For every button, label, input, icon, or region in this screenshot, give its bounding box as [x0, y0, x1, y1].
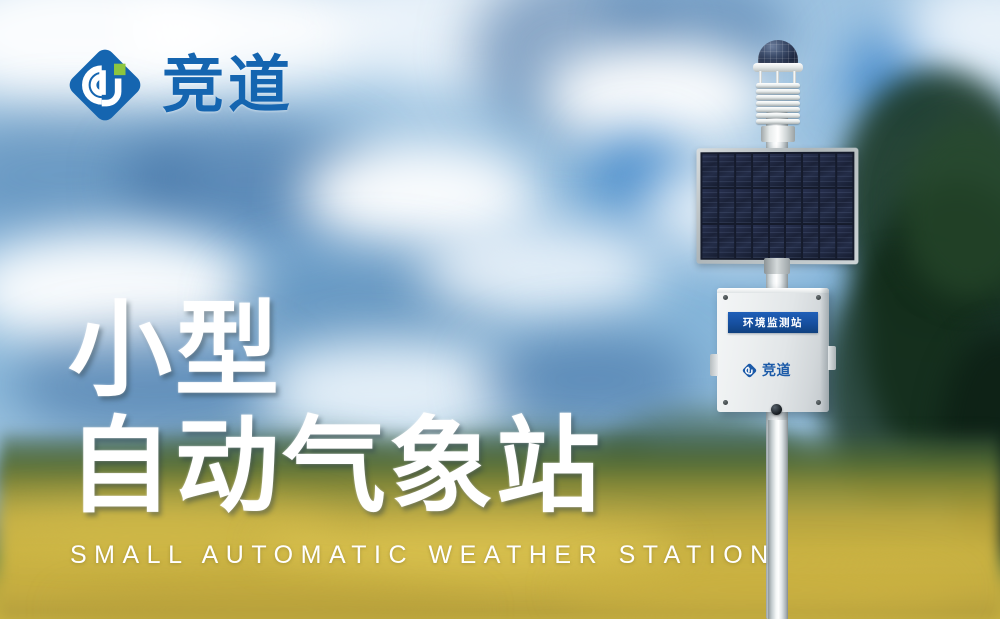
solar-panel-bracket	[764, 258, 790, 274]
mast-lower-section	[768, 420, 788, 619]
weather-station-illustration: 环境监测站 竞道	[660, 0, 920, 619]
product-banner: 竞道 小型 自动气象站 SMALL AUTOMATIC WEATHER STAT…	[0, 0, 1000, 619]
enclosure-right-tab	[828, 346, 836, 370]
enclosure-box: 环境监测站 竞道	[717, 288, 829, 412]
enclosure-left-tab	[710, 354, 718, 376]
jingdao-diamond-logo-icon	[741, 362, 758, 379]
headline-line-1: 小型	[68, 292, 603, 408]
enclosure-brand: 竞道	[741, 360, 791, 380]
radiation-shield-icon	[756, 83, 800, 127]
brand-logo: 竞道	[64, 44, 294, 126]
mast-bolt	[771, 404, 782, 415]
subtitle-english: SMALL AUTOMATIC WEATHER STATION	[70, 541, 776, 570]
headline: 小型 自动气象站	[68, 292, 603, 525]
brand-name: 竞道	[162, 54, 294, 116]
shield-base	[761, 126, 795, 142]
headline-line-2: 自动气象站	[68, 408, 603, 524]
enclosure-banner: 环境监测站	[728, 312, 818, 333]
jingdao-diamond-logo-icon	[64, 44, 146, 126]
solar-panel-icon	[697, 148, 859, 265]
solar-cell-grid	[700, 152, 854, 261]
enclosure-brand-label: 竞道	[762, 360, 791, 380]
enclosure-banner-label: 环境监测站	[743, 315, 803, 330]
